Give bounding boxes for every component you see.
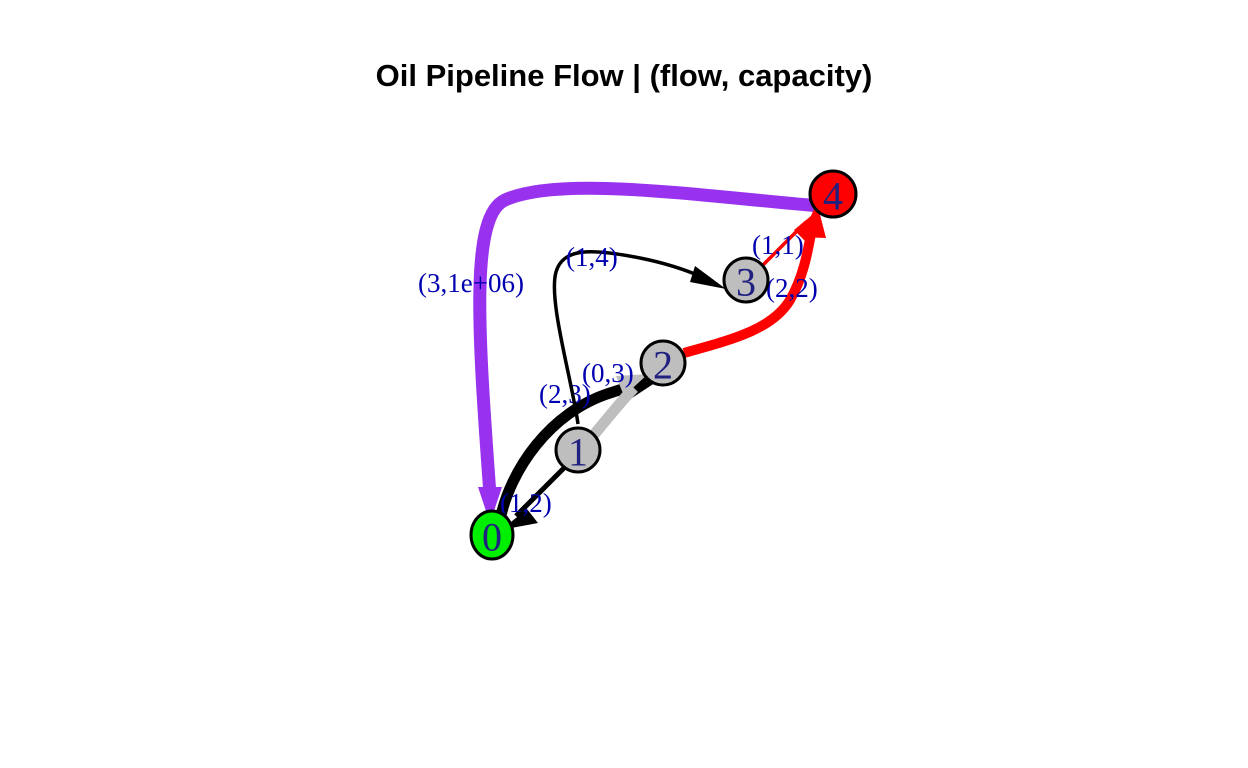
network-flow-diagram-page: Oil Pipeline Flow | (flow, capacity) (3,… (0, 0, 1248, 768)
edge-1-3-arrowhead (690, 266, 726, 289)
edge-3-4-label: (1,1) (752, 230, 804, 260)
node-0-label: 0 (482, 515, 502, 560)
edge-1-2-label: (0,3) (582, 358, 634, 388)
node-4[interactable]: 4 (810, 171, 856, 219)
node-4-label: 4 (823, 174, 843, 219)
edge-1-0-label: (1,2) (500, 488, 552, 518)
edge-2-4-label: (2,2) (766, 273, 818, 303)
node-2[interactable]: 2 (641, 341, 685, 388)
node-3[interactable]: 3 (724, 258, 768, 305)
node-1[interactable]: 1 (556, 428, 600, 475)
node-1-label: 1 (568, 430, 588, 475)
node-3-label: 3 (736, 260, 756, 305)
edge-4-0-label: (3,1e+06) (418, 268, 524, 298)
node-0[interactable]: 0 (471, 511, 513, 560)
edge-1-3-label: (1,4) (566, 242, 618, 272)
node-2-label: 2 (653, 343, 673, 388)
graph-canvas: (3,1e+06) (2,3) (0,3) (1,2) (1,4) (0, 0, 1248, 768)
